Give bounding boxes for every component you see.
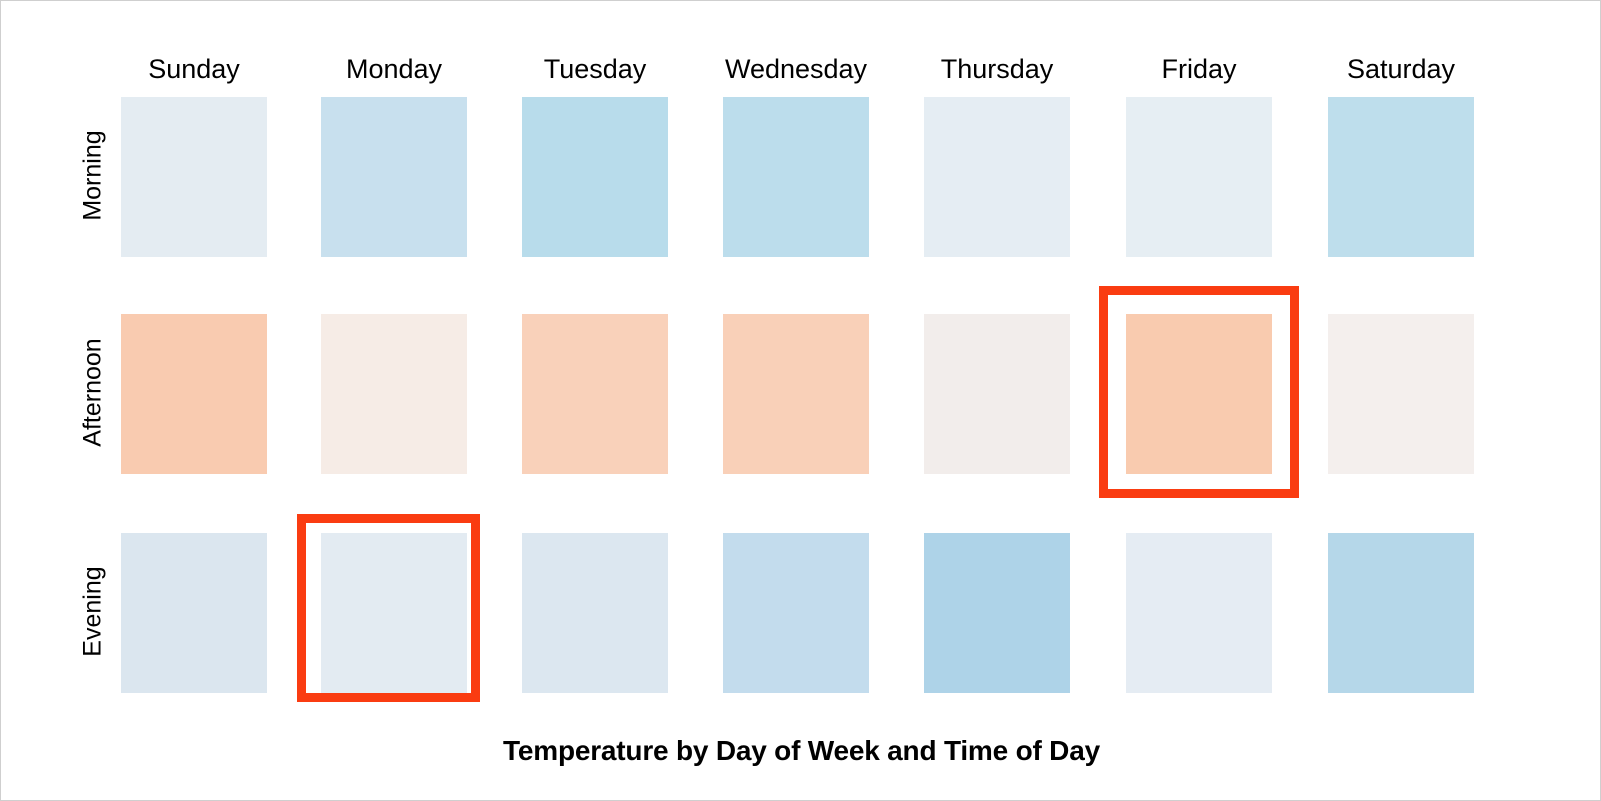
heatmap-cell[interactable]	[522, 97, 668, 257]
row-label-afternoon: Afternoon	[81, 293, 106, 493]
column-header-label: Monday	[346, 54, 442, 84]
column-header-wednesday: Wednesday	[723, 56, 869, 83]
column-header-saturday: Saturday	[1328, 56, 1474, 83]
heatmap-cell[interactable]	[1126, 314, 1272, 474]
heatmap-cell[interactable]	[321, 314, 467, 474]
row-label-text: Morning	[79, 130, 107, 220]
heatmap-cell[interactable]	[924, 314, 1070, 474]
chart-title: Temperature by Day of Week and Time of D…	[1, 735, 1601, 767]
column-header-tuesday: Tuesday	[522, 56, 668, 83]
row-label-evening: Evening	[81, 512, 106, 712]
column-header-label: Wednesday	[725, 54, 867, 84]
heatmap-cell[interactable]	[1328, 314, 1474, 474]
heatmap-cell[interactable]	[121, 533, 267, 693]
heatmap-cell[interactable]	[1328, 97, 1474, 257]
chart-canvas: Sunday Monday Tuesday Wednesday Thursday…	[0, 0, 1601, 801]
heatmap-cell[interactable]	[321, 97, 467, 257]
heatmap-cell[interactable]	[522, 533, 668, 693]
heatmap-cell[interactable]	[1126, 97, 1272, 257]
heatmap-cell[interactable]	[723, 97, 869, 257]
column-header-friday: Friday	[1126, 56, 1272, 83]
heatmap-cell[interactable]	[121, 314, 267, 474]
column-header-label: Saturday	[1347, 54, 1455, 84]
row-label-text: Afternoon	[79, 338, 107, 446]
heatmap-cell[interactable]	[924, 533, 1070, 693]
column-header-sunday: Sunday	[121, 56, 267, 83]
heatmap-cell[interactable]	[1126, 533, 1272, 693]
heatmap-cell[interactable]	[723, 533, 869, 693]
column-header-thursday: Thursday	[924, 56, 1070, 83]
row-label-morning: Morning	[81, 76, 106, 276]
heatmap-cell[interactable]	[1328, 533, 1474, 693]
heatmap-cell[interactable]	[121, 97, 267, 257]
heatmap-cell[interactable]	[321, 533, 467, 693]
column-header-label: Tuesday	[544, 54, 647, 84]
row-label-text: Evening	[79, 566, 107, 656]
heatmap-cell[interactable]	[723, 314, 869, 474]
column-header-monday: Monday	[321, 56, 467, 83]
column-header-label: Friday	[1161, 54, 1236, 84]
heatmap-cell[interactable]	[522, 314, 668, 474]
column-header-label: Thursday	[941, 54, 1054, 84]
column-header-label: Sunday	[148, 54, 240, 84]
heatmap-cell[interactable]	[924, 97, 1070, 257]
